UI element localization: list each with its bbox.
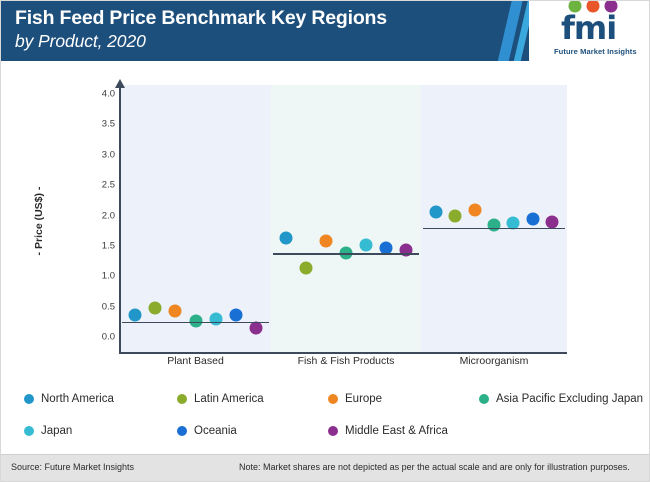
data-point — [488, 219, 501, 232]
legend-item-latin-america[interactable]: Latin America — [177, 393, 264, 405]
chart-plot-area: 4.03.53.02.52.01.51.00.50.0 - Price (US$… — [1, 63, 650, 375]
legend-label: Japan — [41, 425, 72, 437]
legend-swatch-icon — [24, 426, 34, 436]
data-point — [360, 238, 373, 251]
data-point — [129, 308, 142, 321]
legend-item-japan[interactable]: Japan — [24, 425, 72, 437]
legend-label: Latin America — [194, 393, 264, 405]
data-point — [300, 262, 313, 275]
data-point — [449, 209, 462, 222]
legend-item-north-america[interactable]: North America — [24, 393, 114, 405]
chart-page: Fish Feed Price Benchmark Key Regions by… — [0, 0, 650, 482]
logo-tagline: Future Market Insights — [554, 47, 637, 56]
x-axis-label-fish-fish-products: Fish & Fish Products — [271, 355, 421, 367]
page-footer: Source: Future Market Insights Note: Mar… — [1, 454, 650, 481]
x-axis-label-microorganism: Microorganism — [421, 355, 567, 367]
legend-label: Europe — [345, 393, 382, 405]
data-point — [189, 314, 202, 327]
footer-note-text: Note: Market shares are not depicted as … — [239, 462, 630, 472]
legend-item-oceania[interactable]: Oceania — [177, 425, 237, 437]
legend-swatch-icon — [177, 394, 187, 404]
y-axis-ticks: 4.03.53.02.52.01.51.00.50.0 — [71, 63, 115, 375]
y-axis-tick-0-0: 0.0 — [75, 332, 115, 343]
y-axis-tick-0-5: 0.5 — [75, 301, 115, 312]
page-header: Fish Feed Price Benchmark Key Regions by… — [1, 1, 650, 61]
chart-legend: North AmericaLatin AmericaEuropeAsia Pac… — [1, 389, 650, 447]
benchmark-line — [122, 322, 269, 324]
page-subtitle: by Product, 2020 — [15, 30, 495, 53]
legend-item-asia-pacific-excluding-japan[interactable]: Asia Pacific Excluding Japan — [479, 393, 643, 405]
y-axis-tick-2-5: 2.5 — [75, 180, 115, 191]
category-band-plant-based — [120, 85, 271, 352]
y-axis-label: - Price (US$) - — [33, 141, 45, 301]
fmi-logo: fmi Future Market Insights — [537, 4, 645, 58]
title-block: Fish Feed Price Benchmark Key Regions by… — [15, 6, 495, 53]
legend-swatch-icon — [328, 426, 338, 436]
category-band-fish-fish-products — [271, 85, 421, 352]
y-axis-tick-3-5: 3.5 — [75, 119, 115, 130]
data-point — [229, 309, 242, 322]
legend-item-europe[interactable]: Europe — [328, 393, 382, 405]
x-axis-label-plant-based: Plant Based — [120, 355, 271, 367]
data-point — [468, 204, 481, 217]
data-point — [526, 213, 539, 226]
y-axis-tick-1-5: 1.5 — [75, 240, 115, 251]
data-point — [430, 206, 443, 219]
legend-swatch-icon — [24, 394, 34, 404]
legend-swatch-icon — [177, 426, 187, 436]
y-axis-tick-4-0: 4.0 — [75, 89, 115, 100]
y-axis-tick-3-0: 3.0 — [75, 149, 115, 160]
data-point — [320, 235, 333, 248]
legend-label: North America — [41, 393, 114, 405]
legend-label: Middle East & Africa — [345, 425, 448, 437]
data-point — [546, 215, 559, 228]
footer-source-text: Source: Future Market Insights — [11, 462, 134, 472]
data-point — [280, 231, 293, 244]
benchmark-line — [423, 228, 565, 230]
y-axis-tick-2-0: 2.0 — [75, 210, 115, 221]
y-axis-line — [119, 87, 121, 353]
legend-label: Oceania — [194, 425, 237, 437]
legend-item-middle-east-africa[interactable]: Middle East & Africa — [328, 425, 448, 437]
legend-swatch-icon — [328, 394, 338, 404]
x-axis-line — [119, 352, 567, 354]
data-point — [169, 304, 182, 317]
legend-swatch-icon — [479, 394, 489, 404]
data-point — [149, 302, 162, 315]
benchmark-line — [273, 253, 419, 255]
y-axis-tick-1-0: 1.0 — [75, 271, 115, 282]
legend-label: Asia Pacific Excluding Japan — [496, 393, 643, 405]
logo-wordmark: fmi — [561, 12, 616, 44]
page-title: Fish Feed Price Benchmark Key Regions — [15, 6, 495, 30]
